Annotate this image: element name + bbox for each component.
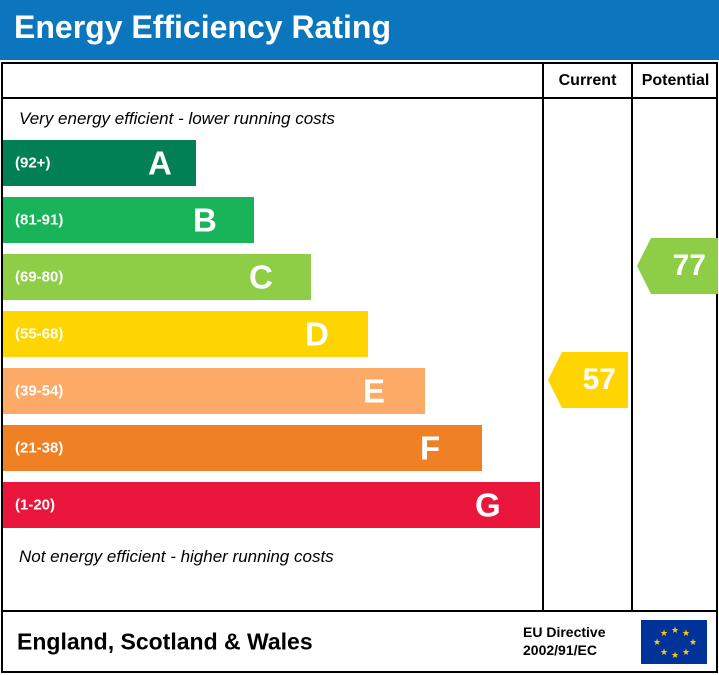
band-range-a: (92+) <box>15 155 50 172</box>
column-header-potential: Potential <box>631 64 718 97</box>
band-letter-d: D <box>305 318 329 351</box>
epc-certificate: Energy Efficiency Rating Current Potenti… <box>0 0 719 675</box>
band-list: (92+) A (81-91) B (69-80) C <box>3 138 540 538</box>
chart-header: Energy Efficiency Rating <box>0 0 719 60</box>
eu-flag-icon: ★ ★ ★ ★ ★ ★ ★ ★ <box>641 620 707 664</box>
column-header-row: Current Potential <box>3 64 716 99</box>
column-divider-2 <box>631 99 633 610</box>
band-letter-g: G <box>475 489 501 522</box>
band-range-f: (21-38) <box>15 440 63 457</box>
current-rating-marker: 57 <box>548 352 628 408</box>
band-letter-a: A <box>148 147 172 180</box>
column-divider-1 <box>542 99 544 610</box>
page-title: Energy Efficiency Rating <box>14 9 391 46</box>
caption-inefficient: Not energy efficient - higher running co… <box>3 537 540 577</box>
band-range-e: (39-54) <box>15 383 63 400</box>
band-range-c: (69-80) <box>15 269 63 286</box>
band-letter-f: F <box>420 432 440 465</box>
column-header-current: Current <box>542 64 631 97</box>
band-range-d: (55-68) <box>15 326 63 343</box>
potential-rating-marker: 77 <box>637 238 718 294</box>
chart-footer: England, Scotland & Wales EU Directive 2… <box>1 612 718 673</box>
band-letter-b: B <box>193 204 217 237</box>
eu-directive-line1: EU Directive <box>523 623 605 642</box>
band-range-g: (1-20) <box>15 497 55 514</box>
caption-efficient: Very energy efficient - lower running co… <box>3 100 540 138</box>
band-letter-e: E <box>363 375 385 408</box>
band-range-b: (81-91) <box>15 212 63 229</box>
eu-directive: EU Directive 2002/91/EC <box>523 623 605 661</box>
eu-directive-line2: 2002/91/EC <box>523 642 605 661</box>
band-letter-c: C <box>249 261 273 294</box>
footer-region: England, Scotland & Wales <box>17 628 313 655</box>
chart-body: Current Potential Very energy efficient … <box>1 62 718 612</box>
